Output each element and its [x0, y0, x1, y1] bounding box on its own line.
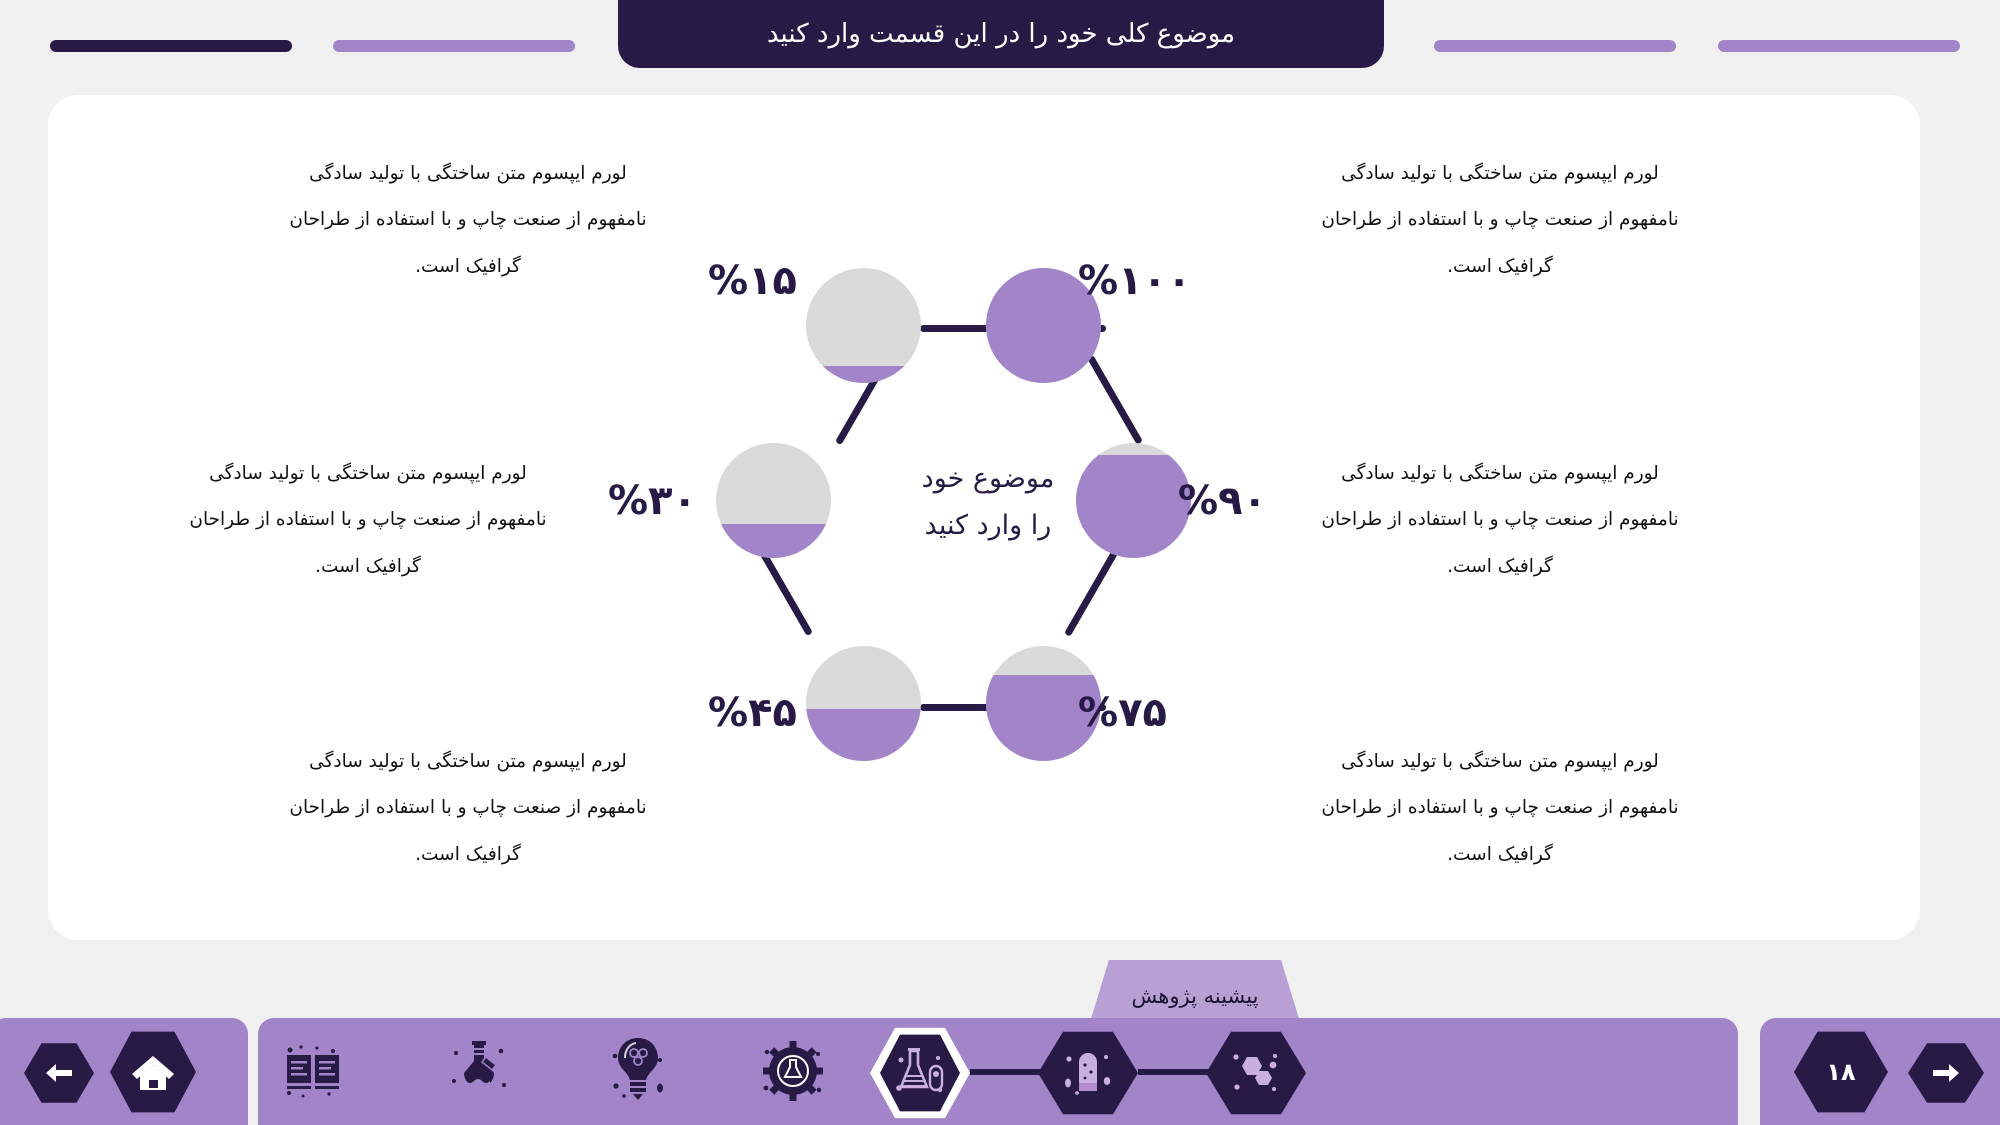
- home-icon[interactable]: [110, 1030, 196, 1114]
- nav-bar-center: [258, 1018, 1738, 1125]
- content-card: لورم ایپسوم متن ساختگی با تولید سادگی نا…: [48, 95, 1920, 940]
- gauge-label-top-right: %۱۰۰: [1078, 258, 1191, 304]
- lightbulb-glyph: [610, 1036, 666, 1106]
- desc-bottom-left: لورم ایپسوم متن ساختگی با تولید سادگی نا…: [278, 739, 658, 878]
- flask-glyph: [450, 1039, 508, 1103]
- arrow-right-glyph: [1929, 1061, 1963, 1085]
- gauge-node-left[interactable]: [716, 443, 831, 558]
- molecules-icon: [1229, 1047, 1283, 1099]
- slide-root: موضوع کلی خود را در این قسمت وارد کنید ل…: [0, 0, 2000, 1125]
- chain-hex-molecules[interactable]: [1206, 1030, 1306, 1116]
- desc-bottom-right: لورم ایپسوم متن ساختگی با تولید سادگی نا…: [1310, 739, 1690, 878]
- decor-bar-purple-1: [333, 40, 575, 52]
- gauge-label-top-left: %۱۵: [708, 258, 797, 304]
- hexagon-gauge-diagram: %۱۵ %۱۰۰ %۹۰ %۷۵ %۴۵ %۳۰ موضوع خود را وا…: [738, 240, 1238, 800]
- gauge-label-bottom-left: %۴۵: [708, 690, 797, 736]
- chain-hex-test-tube[interactable]: [1038, 1030, 1138, 1116]
- page-title: موضوع کلی خود را در این قسمت وارد کنید: [618, 0, 1384, 68]
- home-glyph: [130, 1051, 176, 1093]
- open-book-glyph: [283, 1043, 343, 1099]
- arrow-right-icon[interactable]: [1908, 1042, 1984, 1104]
- decor-bar-purple-3: [1718, 40, 1960, 52]
- nav-bar-right: ۱۸: [1760, 1018, 2000, 1125]
- arrow-left-icon[interactable]: [24, 1042, 94, 1104]
- decor-bar-dark: [50, 40, 292, 52]
- test-tube-icon: [1061, 1045, 1115, 1101]
- desc-top-right: لورم ایپسوم متن ساختگی با تولید سادگی نا…: [1310, 151, 1690, 290]
- desc-top-left: لورم ایپسوم متن ساختگی با تولید سادگی نا…: [278, 151, 658, 290]
- gear-flask-glyph: [761, 1036, 825, 1106]
- gauge-label-left: %۳۰: [608, 478, 697, 524]
- desc-mid-left: لورم ایپسوم متن ساختگی با تولید سادگی نا…: [178, 451, 558, 590]
- chain-hex-lab-flasks[interactable]: [870, 1026, 970, 1120]
- gauge-fill: [716, 524, 831, 559]
- open-book-icon[interactable]: [280, 1040, 346, 1102]
- lab-flasks-icon: [892, 1044, 948, 1102]
- gauge-node-top-left[interactable]: [806, 268, 921, 383]
- page-number-label: ۱۸: [1826, 1058, 1855, 1086]
- chain-hex-inner: [880, 1033, 960, 1113]
- gear-flask-icon[interactable]: [758, 1034, 828, 1108]
- nav-bar-left: [0, 1018, 248, 1125]
- gauge-label-right: %۹۰: [1178, 478, 1267, 524]
- desc-mid-right: لورم ایپسوم متن ساختگی با تولید سادگی نا…: [1310, 451, 1690, 590]
- page-number-hex[interactable]: ۱۸: [1794, 1030, 1888, 1114]
- diagram-center-label: موضوع خود را وارد کنید: [858, 455, 1118, 550]
- gauge-fill: [806, 366, 921, 383]
- section-tab-label[interactable]: پیشینه پژوهش: [1090, 960, 1300, 1022]
- center-line-1: موضوع خود: [858, 455, 1118, 502]
- flask-icon[interactable]: [446, 1036, 512, 1106]
- gauge-label-bottom-right: %۷۵: [1078, 690, 1167, 736]
- lightbulb-molecule-icon[interactable]: [606, 1034, 670, 1108]
- edge-bottom-left: [757, 546, 813, 636]
- gauge-node-bottom-left[interactable]: [806, 646, 921, 761]
- center-line-2: را وارد کنید: [858, 502, 1118, 549]
- arrow-left-glyph: [42, 1061, 76, 1085]
- gauge-fill: [806, 709, 921, 761]
- edge-bottom-right: [1064, 547, 1120, 637]
- decor-bar-purple-2: [1434, 40, 1676, 52]
